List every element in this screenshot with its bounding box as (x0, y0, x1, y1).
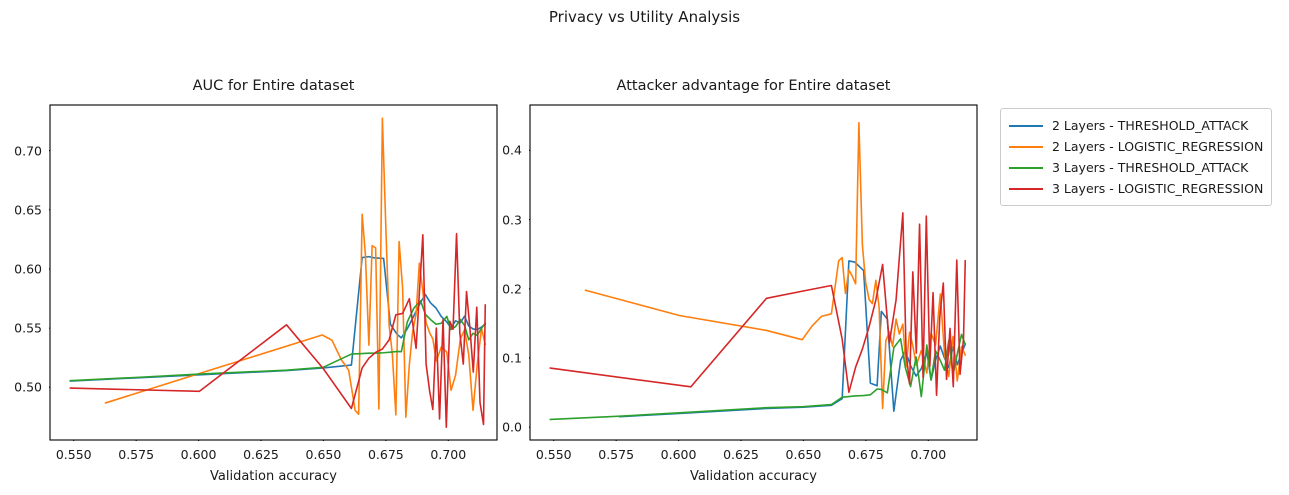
legend-item-label: 3 Layers - THRESHOLD_ATTACK (1052, 160, 1248, 175)
legend-color-swatch (1009, 146, 1043, 148)
figure-canvas: Privacy vs Utility Analysis AUC for Enti… (0, 0, 1289, 495)
x-tick-label: 0.550 (536, 447, 572, 462)
y-tick-label: 0.0 (480, 420, 522, 435)
attacker-advantage-plot-svg (529, 104, 978, 441)
chart-legend: 2 Layers - THRESHOLD_ATTACK2 Layers - LO… (1000, 108, 1272, 206)
x-tick-label: 0.625 (243, 447, 279, 462)
axes-title-attacker-advantage: Attacker advantage for Entire dataset (530, 78, 977, 94)
auc-plot-svg (49, 104, 498, 441)
legend-item: 2 Layers - LOGISTIC_REGRESSION (1009, 136, 1263, 157)
series-line (70, 257, 485, 381)
y-tick-label: 0.50 (0, 380, 42, 395)
y-tick-label: 0.70 (0, 143, 42, 158)
x-tick-label: 0.575 (118, 447, 154, 462)
x-tick-label: 0.675 (368, 447, 404, 462)
x-tick-label: 0.700 (910, 447, 946, 462)
axes-title-auc: AUC for Entire dataset (50, 78, 497, 94)
y-tick-label: 0.60 (0, 261, 42, 276)
figure-suptitle: Privacy vs Utility Analysis (0, 8, 1289, 26)
series-line (105, 118, 485, 417)
x-tick-label: 0.550 (56, 447, 92, 462)
legend-item: 3 Layers - LOGISTIC_REGRESSION (1009, 178, 1263, 199)
x-tick-label: 0.650 (786, 447, 822, 462)
x-tick-label: 0.700 (430, 447, 466, 462)
axes-frame (530, 105, 977, 440)
x-tick-label: 0.600 (181, 447, 217, 462)
legend-item-label: 3 Layers - LOGISTIC_REGRESSION (1052, 181, 1263, 196)
y-tick-label: 0.4 (480, 143, 522, 158)
y-tick-label: 0.65 (0, 202, 42, 217)
series-line (70, 301, 485, 381)
axes-xlabel-auc: Validation accuracy (50, 469, 497, 484)
y-tick-label: 0.3 (480, 212, 522, 227)
series-line (550, 213, 965, 395)
legend-color-swatch (1009, 125, 1043, 127)
legend-item-label: 2 Layers - LOGISTIC_REGRESSION (1052, 139, 1263, 154)
legend-item: 2 Layers - THRESHOLD_ATTACK (1009, 115, 1263, 136)
series-line (70, 234, 485, 428)
x-tick-label: 0.675 (848, 447, 884, 462)
x-tick-label: 0.600 (661, 447, 697, 462)
axes-xlabel-attacker-advantage: Validation accuracy (530, 469, 977, 484)
legend-item: 3 Layers - THRESHOLD_ATTACK (1009, 157, 1263, 178)
y-tick-label: 0.1 (480, 350, 522, 365)
y-tick-label: 0.2 (480, 281, 522, 296)
x-tick-label: 0.625 (723, 447, 759, 462)
legend-color-swatch (1009, 167, 1043, 169)
y-tick-label: 0.55 (0, 321, 42, 336)
x-tick-label: 0.650 (306, 447, 342, 462)
legend-color-swatch (1009, 188, 1043, 190)
x-tick-label: 0.575 (598, 447, 634, 462)
legend-item-label: 2 Layers - THRESHOLD_ATTACK (1052, 118, 1248, 133)
